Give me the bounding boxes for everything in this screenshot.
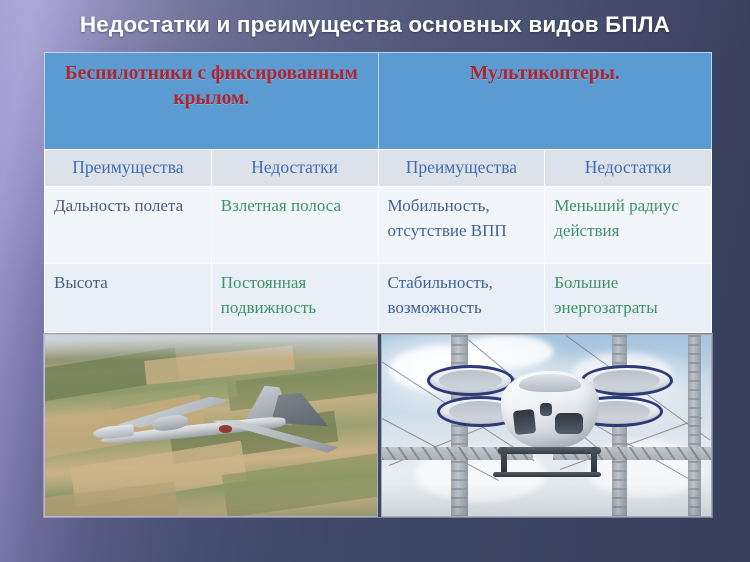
- cell-multicopter-disadvantage: Большие энергозатраты: [545, 264, 712, 333]
- column-header-fixed-wing-disadvantages: Недостатки: [211, 150, 378, 187]
- cell-text: Дальность полета: [45, 187, 211, 218]
- cell-fixed-wing-advantage: Дальность полета: [45, 187, 212, 264]
- cell-fixed-wing-disadvantage: Взлетная полоса: [211, 187, 378, 264]
- group-header-fixed-wing: Беспилотники с фиксированным крылом.: [45, 53, 379, 150]
- table-row: Высота Постоянная подвижность Стабильнос…: [45, 264, 712, 333]
- table-column-header-row: Преимущества Недостатки Преимущества Нед…: [45, 150, 712, 187]
- cell-text: Стабильность, возможность: [379, 264, 545, 320]
- group-header-multicopter-label: Мультикоптеры.: [379, 53, 712, 86]
- cell-text: Меньший радиус действия: [545, 187, 711, 243]
- cell-text: Большие энергозатраты: [545, 264, 711, 320]
- column-header-multicopter-disadvantages: Недостатки: [545, 150, 712, 187]
- cell-multicopter-advantage: Стабильность, возможность: [378, 264, 545, 333]
- fixed-wing-drone-icon: [85, 384, 344, 475]
- comparison-table: Беспилотники с фиксированным крылом. Мул…: [44, 52, 712, 333]
- column-header-label: Недостатки: [212, 150, 378, 179]
- group-header-multicopter: Мультикоптеры.: [378, 53, 712, 150]
- column-header-multicopter-advantages: Преимущества: [378, 150, 545, 187]
- table-row: Дальность полета Взлетная полоса Мобильн…: [45, 187, 712, 264]
- cell-text: Взлетная полоса: [212, 187, 378, 218]
- photo-strip: [44, 334, 712, 517]
- column-header-label: Преимущества: [379, 150, 545, 179]
- table-group-header-row: Беспилотники с фиксированным крылом. Мул…: [45, 53, 712, 150]
- fixed-wing-uav-photo: [44, 334, 378, 517]
- cell-multicopter-disadvantage: Меньший радиус действия: [545, 187, 712, 264]
- cell-text: Мобильность, отсутствие ВПП: [379, 187, 545, 243]
- multicopter-drone-icon: [421, 357, 678, 498]
- cell-text: Высота: [45, 264, 211, 295]
- cell-text: Постоянная подвижность: [212, 264, 378, 320]
- slide-title: Недостатки и преимущества основных видов…: [0, 10, 750, 40]
- multicopter-photo: [381, 334, 712, 517]
- presentation-slide: Недостатки и преимущества основных видов…: [0, 0, 750, 562]
- group-header-fixed-wing-label: Беспилотники с фиксированным крылом.: [45, 53, 378, 111]
- column-header-fixed-wing-advantages: Преимущества: [45, 150, 212, 187]
- cell-fixed-wing-disadvantage: Постоянная подвижность: [211, 264, 378, 333]
- cell-multicopter-advantage: Мобильность, отсутствие ВПП: [378, 187, 545, 264]
- cell-fixed-wing-advantage: Высота: [45, 264, 212, 333]
- column-header-label: Недостатки: [545, 150, 711, 179]
- column-header-label: Преимущества: [45, 150, 211, 179]
